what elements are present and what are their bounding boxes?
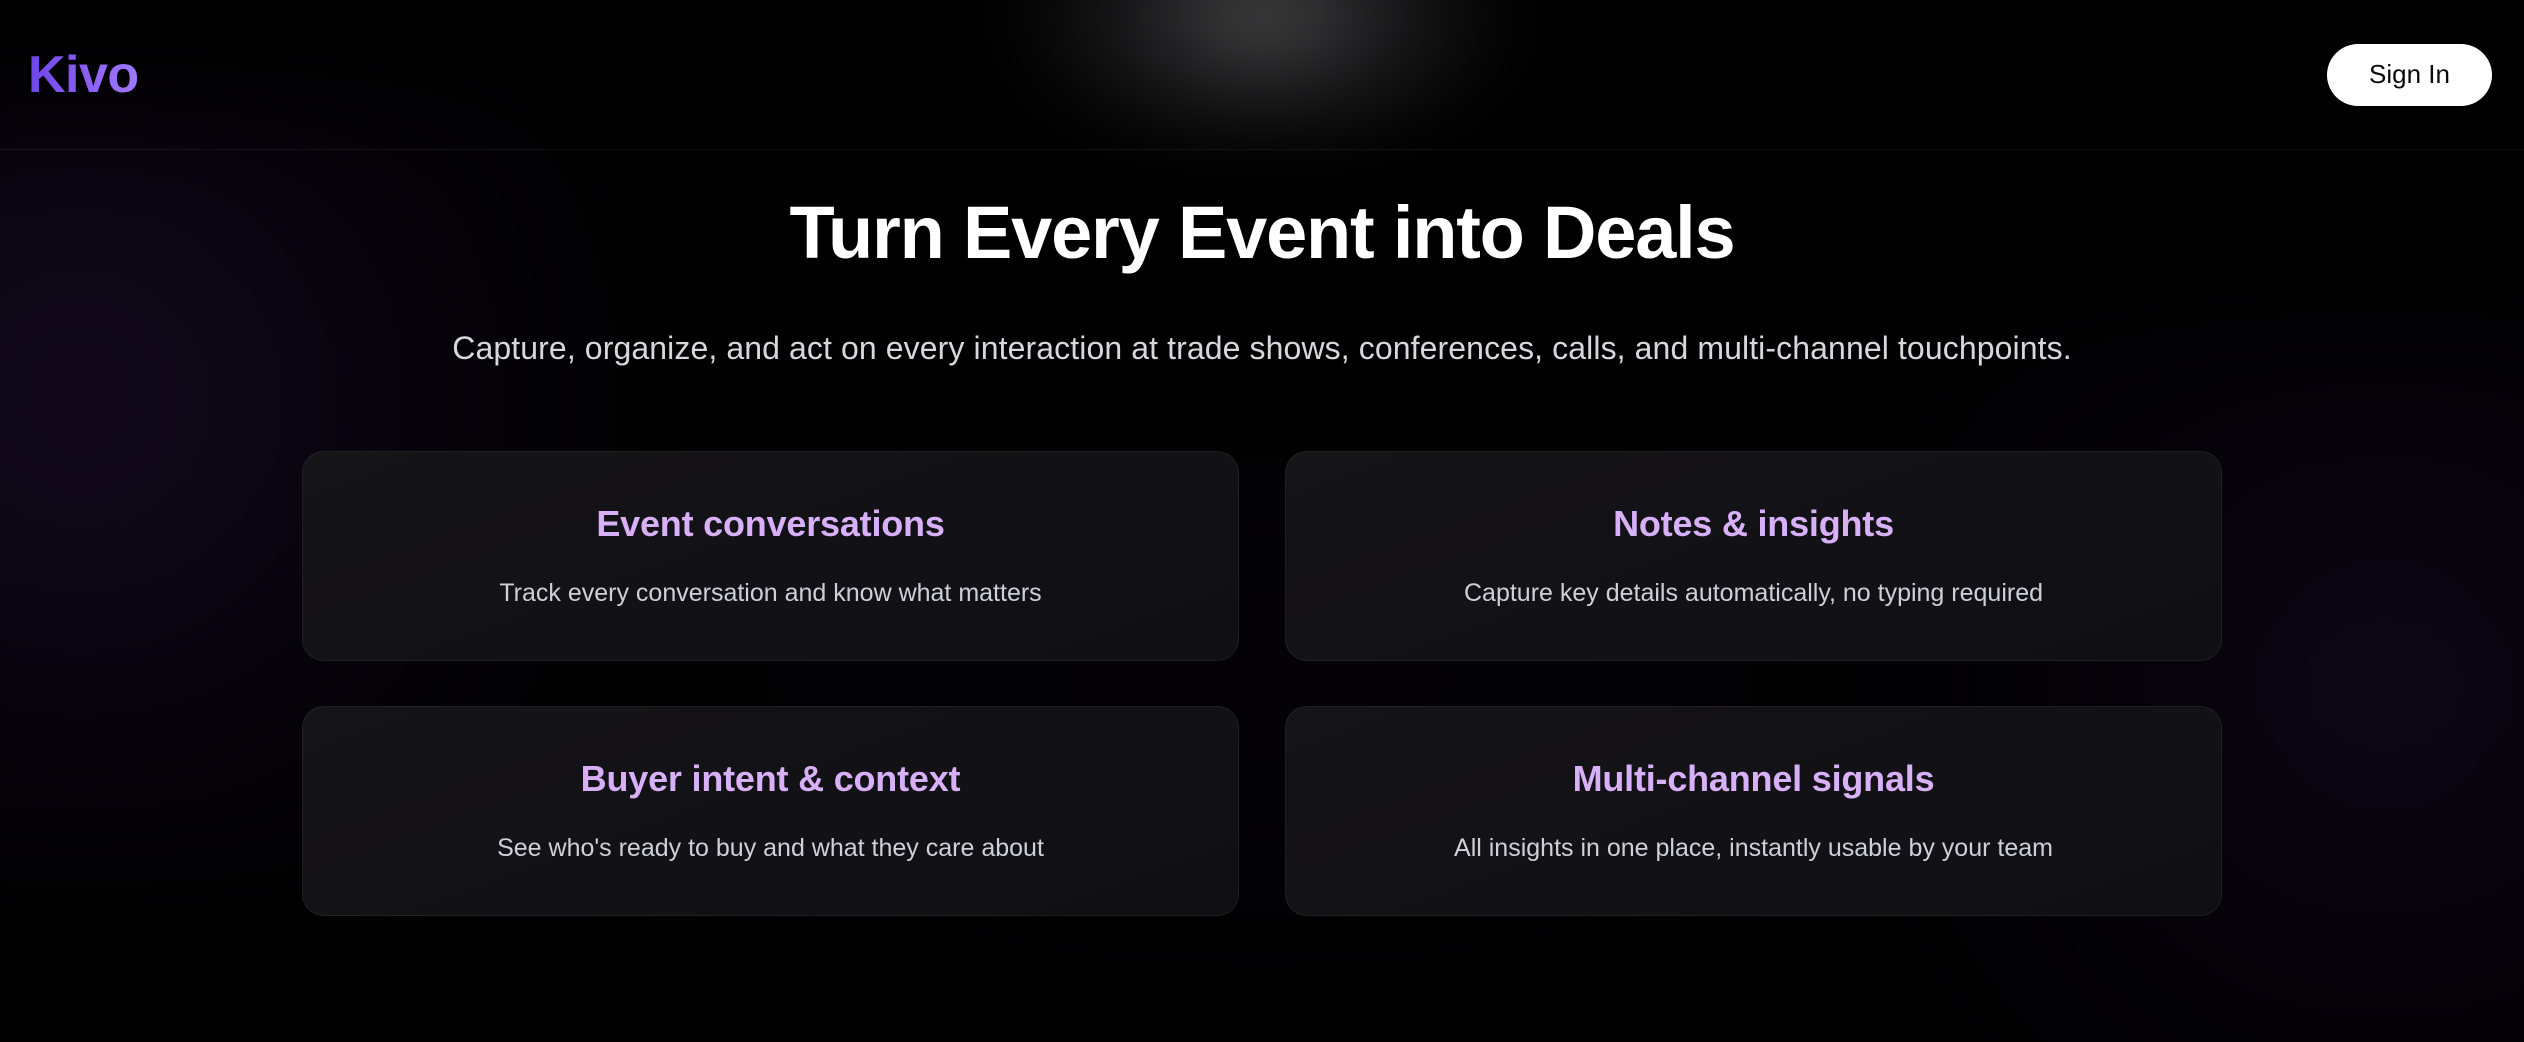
feature-card-title: Event conversations [596, 502, 944, 545]
feature-card-description: All insights in one place, instantly usa… [1454, 832, 2053, 866]
feature-card-buyer-intent-context[interactable]: Buyer intent & context See who's ready t… [302, 706, 1239, 916]
feature-card-multi-channel-signals[interactable]: Multi-channel signals All insights in on… [1285, 706, 2222, 916]
feature-card-title: Multi-channel signals [1573, 757, 1935, 800]
feature-card-description: Capture key details automatically, no ty… [1464, 577, 2043, 611]
feature-card-title: Buyer intent & context [581, 757, 961, 800]
feature-card-description: Track every conversation and know what m… [499, 577, 1041, 611]
feature-card-title: Notes & insights [1613, 502, 1894, 545]
sign-in-button[interactable]: Sign In [2327, 44, 2492, 106]
feature-card-description: See who's ready to buy and what they car… [497, 832, 1044, 866]
feature-cards-section: Event conversations Track every conversa… [302, 375, 2222, 916]
feature-card-notes-insights[interactable]: Notes & insights Capture key details aut… [1285, 451, 2222, 661]
brand-logo[interactable]: Kivo [28, 49, 139, 101]
feature-cards-grid: Event conversations Track every conversa… [302, 451, 2222, 916]
hero-subtitle: Capture, organize, and act on every inte… [362, 323, 2162, 375]
site-header: Kivo Sign In [0, 0, 2524, 150]
feature-card-event-conversations[interactable]: Event conversations Track every conversa… [302, 451, 1239, 661]
page-title: Turn Every Event into Deals [0, 192, 2524, 273]
hero-section: Turn Every Event into Deals Capture, org… [0, 150, 2524, 375]
